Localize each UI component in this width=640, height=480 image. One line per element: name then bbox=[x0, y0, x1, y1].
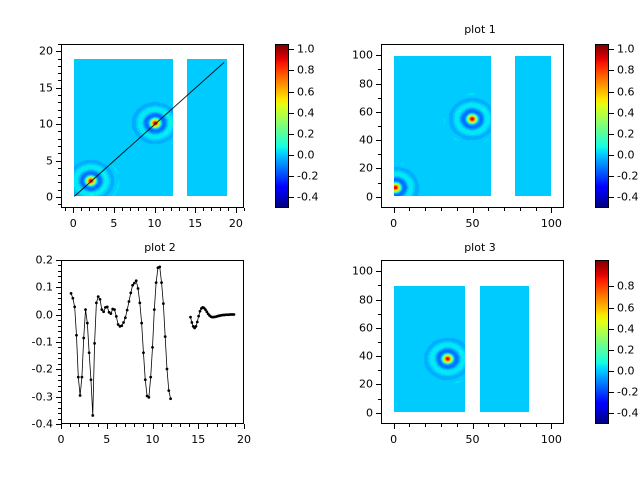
line-marker bbox=[162, 302, 165, 305]
plot-2-axes[interactable] bbox=[61, 260, 244, 424]
colorbar-tick bbox=[609, 286, 614, 287]
major-tick-x bbox=[198, 424, 199, 429]
x-tick-label: 20 bbox=[237, 433, 251, 446]
minor-tick-y bbox=[58, 402, 61, 403]
line-marker bbox=[147, 396, 150, 399]
colorbar-tick bbox=[609, 392, 614, 393]
plot-1-data-area bbox=[382, 45, 563, 207]
minor-tick-y bbox=[58, 44, 61, 45]
minor-tick-x bbox=[226, 424, 227, 427]
major-tick-y bbox=[56, 161, 61, 162]
minor-tick-x bbox=[488, 208, 489, 211]
line-marker bbox=[77, 376, 80, 379]
plot-1-axes[interactable] bbox=[381, 44, 564, 208]
minor-tick-x bbox=[106, 208, 107, 211]
minor-tick-x bbox=[536, 424, 537, 427]
major-tick-x bbox=[244, 424, 245, 429]
line-marker bbox=[137, 287, 140, 290]
line-marker bbox=[93, 342, 96, 345]
minor-tick-x bbox=[457, 208, 458, 211]
minor-tick-x bbox=[228, 208, 229, 211]
y-tick-label: 15 bbox=[39, 81, 53, 94]
subplot-bottom-right: plot 3 050100020406080100 -0.4-0.20.00.2… bbox=[320, 240, 640, 480]
y-tick-label: 0.0 bbox=[36, 308, 54, 321]
minor-tick-y bbox=[58, 204, 61, 205]
line-marker bbox=[100, 308, 103, 311]
line-marker bbox=[84, 308, 87, 311]
minor-tick-x bbox=[98, 208, 99, 211]
minor-tick-x bbox=[138, 208, 139, 211]
y-tick-label: 60 bbox=[359, 321, 373, 334]
minor-tick-x bbox=[98, 424, 99, 427]
x-tick-label: 100 bbox=[541, 217, 562, 230]
major-tick-x bbox=[394, 424, 395, 429]
plot-2-data-area bbox=[62, 261, 243, 423]
major-tick-y bbox=[376, 271, 381, 272]
colorbar-tick-label: 0.2 bbox=[617, 127, 635, 140]
y-tick-label: 10 bbox=[39, 118, 53, 131]
minor-tick-y bbox=[58, 304, 61, 305]
x-tick-label: 50 bbox=[466, 433, 480, 446]
y-tick-label: 40 bbox=[359, 350, 373, 363]
line-marker bbox=[122, 321, 125, 324]
minor-tick-y bbox=[58, 131, 61, 132]
y-tick-label: 80 bbox=[359, 293, 373, 306]
line-marker bbox=[144, 378, 147, 381]
line-marker bbox=[131, 284, 134, 287]
subplot-top-right: plot 1 050100020406080100 -0.4-0.20.00.2… bbox=[320, 0, 640, 240]
minor-tick-y bbox=[58, 337, 61, 338]
line-marker bbox=[169, 397, 172, 400]
colorbar-tick bbox=[609, 371, 614, 372]
line-marker bbox=[75, 334, 78, 337]
major-tick-y bbox=[56, 51, 61, 52]
line-marker bbox=[138, 301, 141, 304]
minor-tick-x bbox=[171, 208, 172, 211]
colorbar-tick-label: -0.4 bbox=[617, 407, 638, 420]
major-tick-y bbox=[56, 88, 61, 89]
colorbar-tick bbox=[609, 329, 614, 330]
line-marker bbox=[73, 306, 76, 309]
plot-0-colorbar-gradient bbox=[276, 45, 288, 207]
colorbar-tick bbox=[609, 113, 614, 114]
minor-tick-y bbox=[378, 285, 381, 286]
minor-tick-x bbox=[116, 424, 117, 427]
colorbar-tick-label: 0.6 bbox=[297, 85, 315, 98]
y-tick-label: 100 bbox=[352, 265, 373, 278]
minor-tick-x bbox=[65, 208, 66, 211]
y-tick-label: 5 bbox=[46, 154, 53, 167]
minor-tick-y bbox=[58, 66, 61, 67]
major-tick-y bbox=[376, 384, 381, 385]
plot-1-colorbar-gradient bbox=[596, 45, 608, 207]
x-tick-label: 0 bbox=[390, 433, 397, 446]
line-marker bbox=[197, 315, 200, 318]
minor-tick-x bbox=[457, 424, 458, 427]
y-tick-label: -0.1 bbox=[32, 336, 53, 349]
line-marker bbox=[133, 282, 136, 285]
minor-tick-x bbox=[146, 208, 147, 211]
y-tick-label: 40 bbox=[359, 134, 373, 147]
minor-tick-x bbox=[162, 424, 163, 427]
y-tick-label: 0.2 bbox=[36, 254, 54, 267]
plot-0-colorbar bbox=[275, 44, 289, 208]
line-series-segment-a bbox=[71, 267, 171, 416]
colorbar-tick-label: 0.4 bbox=[617, 106, 635, 119]
minor-tick-y bbox=[58, 95, 61, 96]
line-marker bbox=[151, 346, 154, 349]
y-tick-label: 60 bbox=[359, 105, 373, 118]
minor-tick-y bbox=[378, 314, 381, 315]
minor-tick-x bbox=[425, 424, 426, 427]
line-marker bbox=[140, 322, 143, 325]
minor-tick-x bbox=[207, 424, 208, 427]
plot-2-line-svg bbox=[62, 261, 243, 423]
line-marker bbox=[106, 306, 109, 309]
minor-tick-y bbox=[58, 408, 61, 409]
x-tick-label: 15 bbox=[191, 433, 205, 446]
line-marker bbox=[95, 301, 98, 304]
colorbar-tick-label: 0.8 bbox=[617, 64, 635, 77]
minor-tick-y bbox=[58, 293, 61, 294]
major-tick-y bbox=[56, 369, 61, 370]
line-marker bbox=[115, 315, 118, 318]
line-marker bbox=[135, 279, 138, 282]
minor-tick-x bbox=[244, 208, 245, 211]
y-tick-label: -0.3 bbox=[32, 390, 53, 403]
y-tick-label: 0 bbox=[366, 406, 373, 419]
minor-tick-y bbox=[58, 326, 61, 327]
major-tick-x bbox=[114, 208, 115, 213]
colorbar-tick-label: 0.6 bbox=[617, 85, 635, 98]
minor-tick-x bbox=[88, 424, 89, 427]
colorbar-tick bbox=[289, 155, 294, 156]
minor-tick-y bbox=[58, 182, 61, 183]
colorbar-tick bbox=[609, 134, 614, 135]
colorbar-tick-label: 0.6 bbox=[617, 301, 635, 314]
minor-tick-x bbox=[217, 424, 218, 427]
major-tick-x bbox=[61, 424, 62, 429]
minor-tick-x bbox=[163, 208, 164, 211]
colorbar-tick bbox=[289, 197, 294, 198]
heatmap-patch bbox=[394, 286, 464, 412]
major-tick-x bbox=[473, 424, 474, 429]
plot-3-title: plot 3 bbox=[320, 242, 640, 254]
minor-tick-y bbox=[58, 168, 61, 169]
line-marker bbox=[158, 266, 161, 269]
y-tick-label: 20 bbox=[359, 378, 373, 391]
line-marker bbox=[113, 308, 116, 311]
minor-tick-y bbox=[58, 413, 61, 414]
minor-tick-y bbox=[58, 110, 61, 111]
colorbar-tick bbox=[609, 413, 614, 414]
minor-tick-x bbox=[189, 424, 190, 427]
minor-tick-x bbox=[235, 424, 236, 427]
major-tick-y bbox=[56, 342, 61, 343]
subplot-top-left: 0510152005101520 -0.4-0.20.00.20.40.60.8… bbox=[0, 0, 320, 240]
minor-tick-x bbox=[520, 424, 521, 427]
y-tick-label: 0 bbox=[366, 190, 373, 203]
colorbar-tick-label: 0.2 bbox=[617, 343, 635, 356]
colorbar-tick-label: -0.2 bbox=[617, 170, 638, 183]
line-marker bbox=[164, 335, 167, 338]
line-marker bbox=[166, 368, 169, 371]
major-tick-y bbox=[56, 424, 61, 425]
minor-tick-y bbox=[378, 399, 381, 400]
colorbar-tick bbox=[289, 134, 294, 135]
plot-2-title: plot 2 bbox=[0, 242, 320, 254]
colorbar-tick-label: -0.4 bbox=[297, 191, 318, 204]
x-tick-label: 100 bbox=[541, 433, 562, 446]
major-tick-y bbox=[376, 168, 381, 169]
colorbar-tick-label: -0.4 bbox=[617, 191, 638, 204]
colorbar-tick-label: 0.4 bbox=[617, 322, 635, 335]
minor-tick-x bbox=[179, 208, 180, 211]
line-marker bbox=[88, 351, 91, 354]
major-tick-y bbox=[376, 197, 381, 198]
line-marker bbox=[97, 295, 100, 298]
colorbar-tick-label: 0.0 bbox=[617, 365, 635, 378]
minor-tick-x bbox=[70, 424, 71, 427]
major-tick-y bbox=[376, 55, 381, 56]
line-marker bbox=[189, 316, 192, 319]
line-marker bbox=[102, 310, 105, 313]
y-tick-label: 20 bbox=[39, 45, 53, 58]
x-tick-label: 5 bbox=[103, 433, 110, 446]
major-tick-x bbox=[551, 208, 552, 213]
minor-tick-y bbox=[58, 309, 61, 310]
minor-tick-y bbox=[58, 353, 61, 354]
minor-tick-y bbox=[58, 265, 61, 266]
y-tick-label: -0.4 bbox=[32, 418, 53, 431]
plot-1-title: plot 1 bbox=[320, 24, 640, 36]
major-tick-x bbox=[236, 208, 237, 213]
line-marker bbox=[99, 298, 102, 301]
colorbar-tick bbox=[609, 70, 614, 71]
minor-tick-x bbox=[441, 208, 442, 211]
line-marker bbox=[190, 321, 193, 324]
line-marker bbox=[70, 292, 73, 295]
colorbar-tick-label: 0.4 bbox=[297, 106, 315, 119]
minor-tick-x bbox=[504, 424, 505, 427]
y-tick-label: 20 bbox=[359, 162, 373, 175]
minor-tick-y bbox=[58, 146, 61, 147]
minor-tick-x bbox=[211, 208, 212, 211]
minor-tick-x bbox=[536, 208, 537, 211]
minor-tick-x bbox=[441, 424, 442, 427]
major-tick-y bbox=[376, 356, 381, 357]
y-tick-label: 100 bbox=[352, 49, 373, 62]
colorbar-tick bbox=[609, 49, 614, 50]
minor-tick-y bbox=[58, 375, 61, 376]
colorbar-tick-label: -0.2 bbox=[617, 386, 638, 399]
x-tick-label: 50 bbox=[466, 217, 480, 230]
minor-tick-y bbox=[58, 80, 61, 81]
minor-tick-y bbox=[378, 98, 381, 99]
minor-tick-y bbox=[58, 139, 61, 140]
minor-tick-y bbox=[58, 364, 61, 365]
colorbar-tick bbox=[609, 92, 614, 93]
line-marker bbox=[196, 321, 199, 324]
minor-tick-x bbox=[171, 424, 172, 427]
minor-tick-x bbox=[425, 208, 426, 211]
line-marker bbox=[167, 389, 170, 392]
minor-tick-x bbox=[520, 208, 521, 211]
y-tick-label: 0.1 bbox=[36, 281, 54, 294]
line-marker bbox=[160, 281, 163, 284]
major-tick-y bbox=[56, 287, 61, 288]
y-tick-label: 80 bbox=[359, 77, 373, 90]
colorbar-tick-label: -0.2 bbox=[297, 170, 318, 183]
major-tick-x bbox=[155, 208, 156, 213]
x-tick-label: 20 bbox=[229, 217, 243, 230]
colorbar-tick-label: 0.2 bbox=[297, 127, 315, 140]
colorbar-tick-label: 0.0 bbox=[617, 149, 635, 162]
line-marker bbox=[120, 324, 123, 327]
line-marker bbox=[155, 281, 158, 284]
plot-3-colorbar bbox=[595, 260, 609, 424]
minor-tick-y bbox=[378, 154, 381, 155]
major-tick-y bbox=[56, 124, 61, 125]
colorbar-tick bbox=[609, 350, 614, 351]
line-marker bbox=[81, 376, 84, 379]
plot-3-axes[interactable] bbox=[381, 260, 564, 424]
plot-0-data-area bbox=[62, 45, 243, 207]
major-tick-y bbox=[376, 328, 381, 329]
major-tick-y bbox=[56, 397, 61, 398]
line-marker bbox=[233, 313, 236, 316]
line-marker bbox=[82, 337, 85, 340]
major-tick-y bbox=[56, 260, 61, 261]
heatmap-patch bbox=[480, 286, 528, 412]
major-tick-y bbox=[376, 112, 381, 113]
colorbar-tick bbox=[289, 176, 294, 177]
plot-3-colorbar-gradient bbox=[596, 261, 608, 423]
minor-tick-x bbox=[203, 208, 204, 211]
minor-tick-y bbox=[58, 271, 61, 272]
line-marker bbox=[109, 312, 112, 315]
line-marker bbox=[149, 376, 152, 379]
plot-1-colorbar bbox=[595, 44, 609, 208]
heatmap-patch bbox=[515, 56, 551, 196]
figure-canvas: 0510152005101520 -0.4-0.20.00.20.40.60.8… bbox=[0, 0, 640, 480]
minor-tick-y bbox=[58, 358, 61, 359]
x-tick-label: 15 bbox=[188, 217, 202, 230]
line-marker bbox=[90, 378, 93, 381]
minor-tick-y bbox=[378, 126, 381, 127]
major-tick-x bbox=[394, 208, 395, 213]
minor-tick-y bbox=[58, 419, 61, 420]
line-marker bbox=[71, 297, 74, 300]
minor-tick-y bbox=[378, 69, 381, 70]
minor-tick-x bbox=[134, 424, 135, 427]
major-tick-x bbox=[195, 208, 196, 213]
minor-tick-x bbox=[488, 424, 489, 427]
minor-tick-y bbox=[58, 282, 61, 283]
line-marker bbox=[79, 394, 82, 397]
major-tick-y bbox=[56, 197, 61, 198]
major-tick-x bbox=[473, 208, 474, 213]
minor-tick-x bbox=[143, 424, 144, 427]
minor-tick-x bbox=[122, 208, 123, 211]
minor-tick-y bbox=[58, 331, 61, 332]
minor-tick-y bbox=[378, 342, 381, 343]
line-marker bbox=[91, 414, 94, 417]
colorbar-tick-label: 0.0 bbox=[297, 149, 315, 162]
colorbar-tick-label: 1.0 bbox=[617, 43, 635, 56]
minor-tick-y bbox=[58, 298, 61, 299]
line-marker bbox=[124, 316, 127, 319]
minor-tick-y bbox=[58, 73, 61, 74]
colorbar-tick-label: 1.0 bbox=[297, 43, 315, 56]
colorbar-tick bbox=[609, 176, 614, 177]
minor-tick-y bbox=[58, 117, 61, 118]
major-tick-y bbox=[376, 140, 381, 141]
line-marker bbox=[126, 309, 129, 312]
minor-tick-x bbox=[81, 208, 82, 211]
x-tick-label: 0 bbox=[70, 217, 77, 230]
minor-tick-y bbox=[58, 386, 61, 387]
line-marker bbox=[86, 322, 89, 325]
plot-0-axes[interactable] bbox=[61, 44, 244, 208]
minor-tick-x bbox=[220, 208, 221, 211]
heatmap-patch bbox=[394, 56, 491, 196]
plot-3-data-area bbox=[382, 261, 563, 423]
colorbar-tick bbox=[289, 49, 294, 50]
minor-tick-x bbox=[89, 208, 90, 211]
minor-tick-y bbox=[58, 190, 61, 191]
heatmap-patch bbox=[74, 59, 173, 196]
minor-tick-y bbox=[58, 380, 61, 381]
y-tick-label: -0.2 bbox=[32, 363, 53, 376]
minor-tick-x bbox=[504, 208, 505, 211]
colorbar-tick-label: 0.8 bbox=[617, 280, 635, 293]
minor-tick-y bbox=[58, 102, 61, 103]
subplot-bottom-left: plot 2 05101520-0.4-0.3-0.2-0.10.00.10.2 bbox=[0, 240, 320, 480]
colorbar-tick bbox=[289, 70, 294, 71]
major-tick-y bbox=[376, 413, 381, 414]
x-tick-label: 5 bbox=[110, 217, 117, 230]
major-tick-x bbox=[153, 424, 154, 429]
minor-tick-x bbox=[409, 424, 410, 427]
line-marker bbox=[195, 325, 198, 328]
minor-tick-x bbox=[79, 424, 80, 427]
line-marker bbox=[153, 308, 156, 311]
minor-tick-y bbox=[58, 391, 61, 392]
major-tick-x bbox=[73, 208, 74, 213]
minor-tick-y bbox=[378, 183, 381, 184]
minor-tick-y bbox=[58, 175, 61, 176]
minor-tick-y bbox=[378, 370, 381, 371]
minor-tick-x bbox=[409, 208, 410, 211]
x-tick-label: 10 bbox=[148, 217, 162, 230]
major-tick-y bbox=[56, 315, 61, 316]
minor-tick-x bbox=[180, 424, 181, 427]
minor-tick-y bbox=[58, 59, 61, 60]
minor-tick-x bbox=[130, 208, 131, 211]
colorbar-tick bbox=[289, 92, 294, 93]
minor-tick-y bbox=[58, 153, 61, 154]
x-tick-label: 10 bbox=[146, 433, 160, 446]
minor-tick-y bbox=[58, 276, 61, 277]
major-tick-y bbox=[376, 84, 381, 85]
colorbar-tick bbox=[609, 308, 614, 309]
line-marker bbox=[142, 351, 145, 354]
major-tick-x bbox=[551, 424, 552, 429]
colorbar-tick bbox=[289, 113, 294, 114]
y-tick-label: 0 bbox=[46, 191, 53, 204]
x-tick-label: 0 bbox=[390, 217, 397, 230]
